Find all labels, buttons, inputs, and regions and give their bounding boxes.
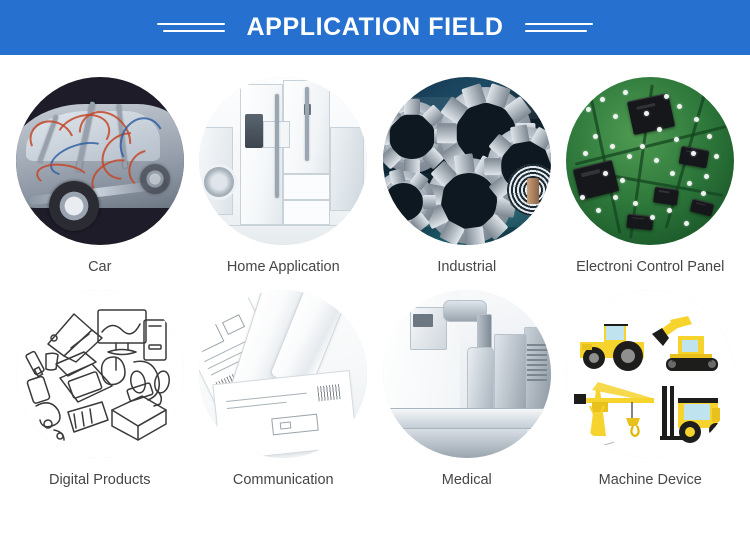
application-item-industrial[interactable]: Industrial [375,77,559,290]
application-item-communication[interactable]: Communication [192,290,376,503]
application-item-label: Machine Device [599,472,702,488]
electroni-control-panel-image [566,77,734,245]
application-field-grid: Car [0,55,750,503]
application-item-machine-device[interactable]: Machine Device [559,290,743,503]
page-title: APPLICATION FIELD [247,13,504,42]
digital-products-image [16,290,184,458]
application-item-label: Communication [233,472,334,488]
application-item-label: Home Application [227,259,340,275]
application-item-home-application[interactable]: Home Application [192,77,376,290]
application-field-page: APPLICATION FIELD Car [0,0,750,544]
industrial-image [383,77,551,245]
application-item-car[interactable]: Car [8,77,192,290]
application-item-label: Car [88,259,111,275]
application-item-medical[interactable]: Medical [375,290,559,503]
application-item-label: Medical [442,472,492,488]
medical-image [383,290,551,458]
application-item-label: Digital Products [49,472,151,488]
application-item-label: Industrial [437,259,496,275]
home-application-image [199,77,367,245]
application-item-electroni-control-panel[interactable]: Electroni Control Panel [559,77,743,290]
page-banner: APPLICATION FIELD [0,0,750,55]
double-line-decorator-right-icon [525,23,593,32]
communication-image [199,290,367,458]
car-image [16,77,184,245]
double-line-decorator-left-icon [157,23,225,32]
machine-device-image [566,290,734,458]
application-item-digital-products[interactable]: Digital Products [8,290,192,503]
application-item-label: Electroni Control Panel [576,259,724,275]
